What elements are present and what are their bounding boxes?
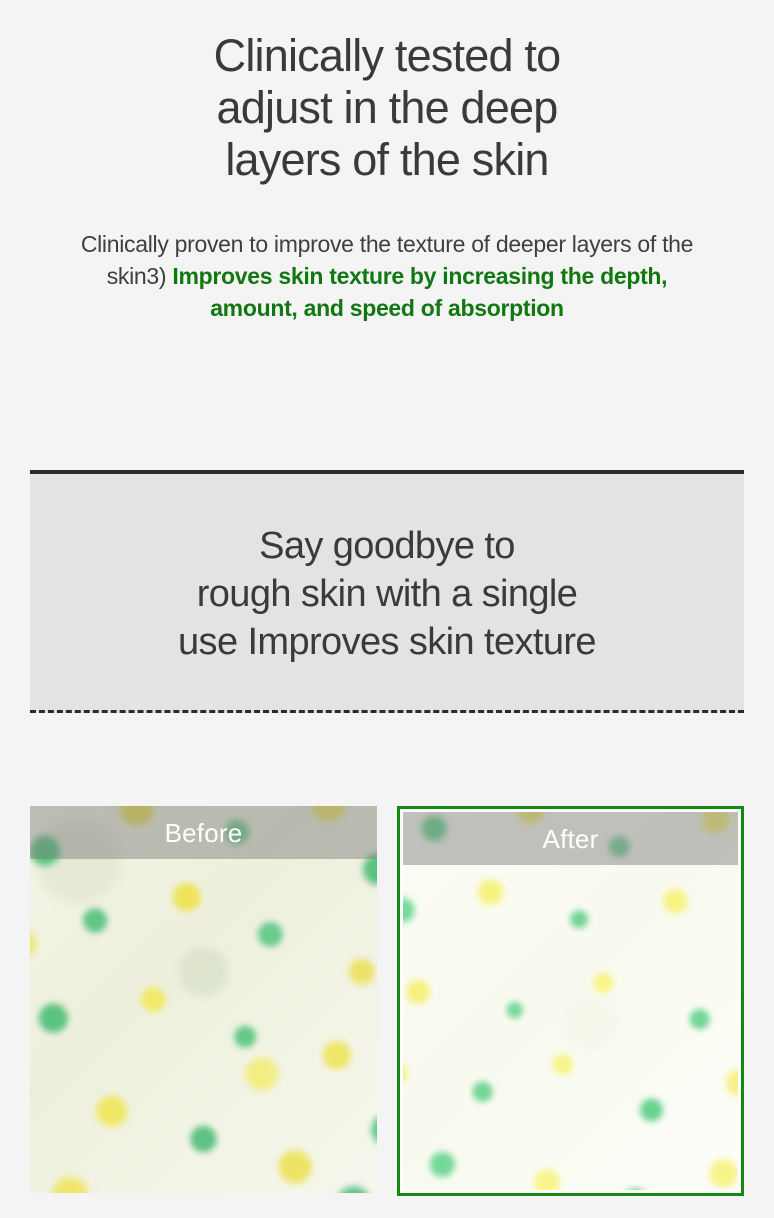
before-panel: Before [30, 806, 377, 1193]
after-panel: After [397, 806, 744, 1196]
before-image: Before [30, 806, 377, 1193]
before-label: Before [165, 820, 243, 846]
subtext-accent: Improves skin texture by increasing the … [172, 263, 667, 321]
page-title: Clinically tested to adjust in the deep … [0, 0, 774, 186]
after-image: After [403, 812, 738, 1190]
skin-texture-before-icon [30, 806, 377, 1193]
subtext-paragraph: Clinically proven to improve the texture… [0, 186, 774, 324]
after-label: After [543, 826, 599, 852]
skin-texture-after-icon [403, 812, 738, 1190]
banner-section: Say goodbye to rough skin with a single … [30, 470, 744, 713]
banner-box: Say goodbye to rough skin with a single … [30, 470, 744, 713]
after-label-bar: After [403, 812, 738, 865]
before-label-bar: Before [30, 806, 377, 859]
before-after-comparison: Before After [0, 806, 774, 1196]
banner-headline: Say goodbye to rough skin with a single … [50, 522, 724, 666]
